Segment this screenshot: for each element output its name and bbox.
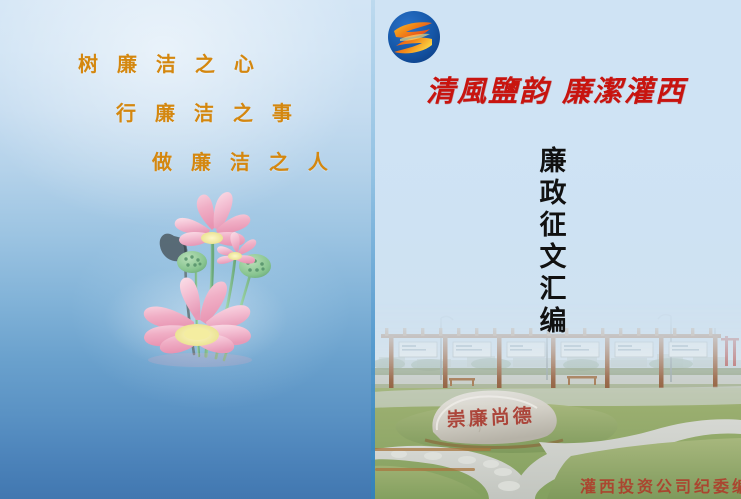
publisher-caption: 灌西投资公司纪委编 bbox=[381, 473, 741, 497]
slogan-line-1: 树 廉 洁 之 心 bbox=[0, 48, 371, 77]
lotus-illustration bbox=[96, 188, 306, 368]
vertical-char-2: 政 bbox=[536, 178, 570, 210]
svg-text:崇廉尚德: 崇廉尚德 bbox=[446, 404, 535, 432]
publisher-caption-text: 灌西投资公司纪委编 bbox=[580, 473, 741, 497]
vertical-char-1: 廉 bbox=[536, 146, 570, 178]
back-cover-panel: 树 廉 洁 之 心 行 廉 洁 之 事 做 廉 洁 之 人 bbox=[0, 0, 371, 499]
cover-spread: 树 廉 洁 之 心 行 廉 洁 之 事 做 廉 洁 之 人 bbox=[0, 0, 741, 499]
front-cover-panel: 崇廉尚德 bbox=[371, 0, 741, 499]
vertical-char-5: 汇 bbox=[536, 274, 570, 306]
company-swoosh-logo bbox=[386, 9, 442, 65]
cover-title: 清風鹽韵 廉潔灌西 bbox=[371, 68, 741, 110]
vertical-char-6: 编 bbox=[536, 306, 570, 338]
back-cover-slogan: 树 廉 洁 之 心 行 廉 洁 之 事 做 廉 洁 之 人 bbox=[0, 48, 371, 175]
slogan-line-2: 行 廉 洁 之 事 bbox=[0, 97, 371, 126]
panel-seam-divider bbox=[371, 0, 375, 499]
vertical-char-3: 征 bbox=[536, 210, 570, 242]
vertical-subtitle: 廉 政 征 文 汇 编 bbox=[536, 146, 570, 338]
vertical-char-4: 文 bbox=[536, 242, 570, 274]
slogan-line-3: 做 廉 洁 之 人 bbox=[0, 146, 371, 175]
